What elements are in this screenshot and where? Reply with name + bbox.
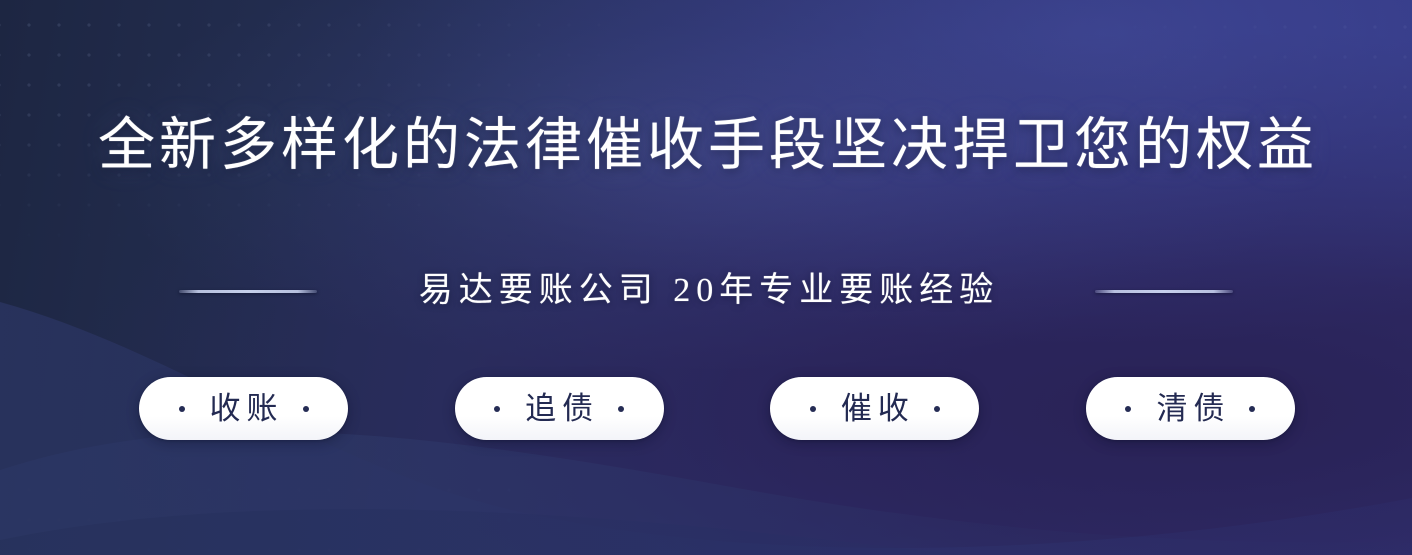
service-pill-shouzhang[interactable]: 收账 <box>139 377 348 440</box>
bullet-dot-icon <box>618 406 624 412</box>
service-pill-zhuizhai[interactable]: 追债 <box>455 377 664 440</box>
service-pill-row: 收账 追债 催收 清债 <box>139 377 1295 440</box>
bullet-dot-icon <box>810 406 816 412</box>
subtitle-row: 易达要账公司 20年专业要账经验 <box>0 265 1412 317</box>
right-rule-icon <box>1095 290 1233 293</box>
bullet-dot-icon <box>1125 406 1131 412</box>
bullet-dot-icon <box>303 406 309 412</box>
page-title: 全新多样化的法律催收手段坚决捍卫您的权益 <box>0 111 1412 181</box>
left-rule-icon <box>179 290 317 293</box>
service-pill-label: 追债 <box>519 389 599 429</box>
bullet-dot-icon <box>179 406 185 412</box>
promo-banner: 全新多样化的法律催收手段坚决捍卫您的权益 易达要账公司 20年专业要账经验 收账… <box>0 0 1412 555</box>
bullet-dot-icon <box>494 406 500 412</box>
service-pill-label: 清债 <box>1150 389 1230 429</box>
service-pill-cuishou[interactable]: 催收 <box>770 377 979 440</box>
service-pill-label: 收账 <box>204 389 284 429</box>
service-pill-label: 催收 <box>835 389 915 429</box>
service-pill-qingzhai[interactable]: 清债 <box>1086 377 1295 440</box>
bullet-dot-icon <box>1249 406 1255 412</box>
subtitle: 易达要账公司 20年专业要账经验 <box>413 268 1000 314</box>
bullet-dot-icon <box>934 406 940 412</box>
